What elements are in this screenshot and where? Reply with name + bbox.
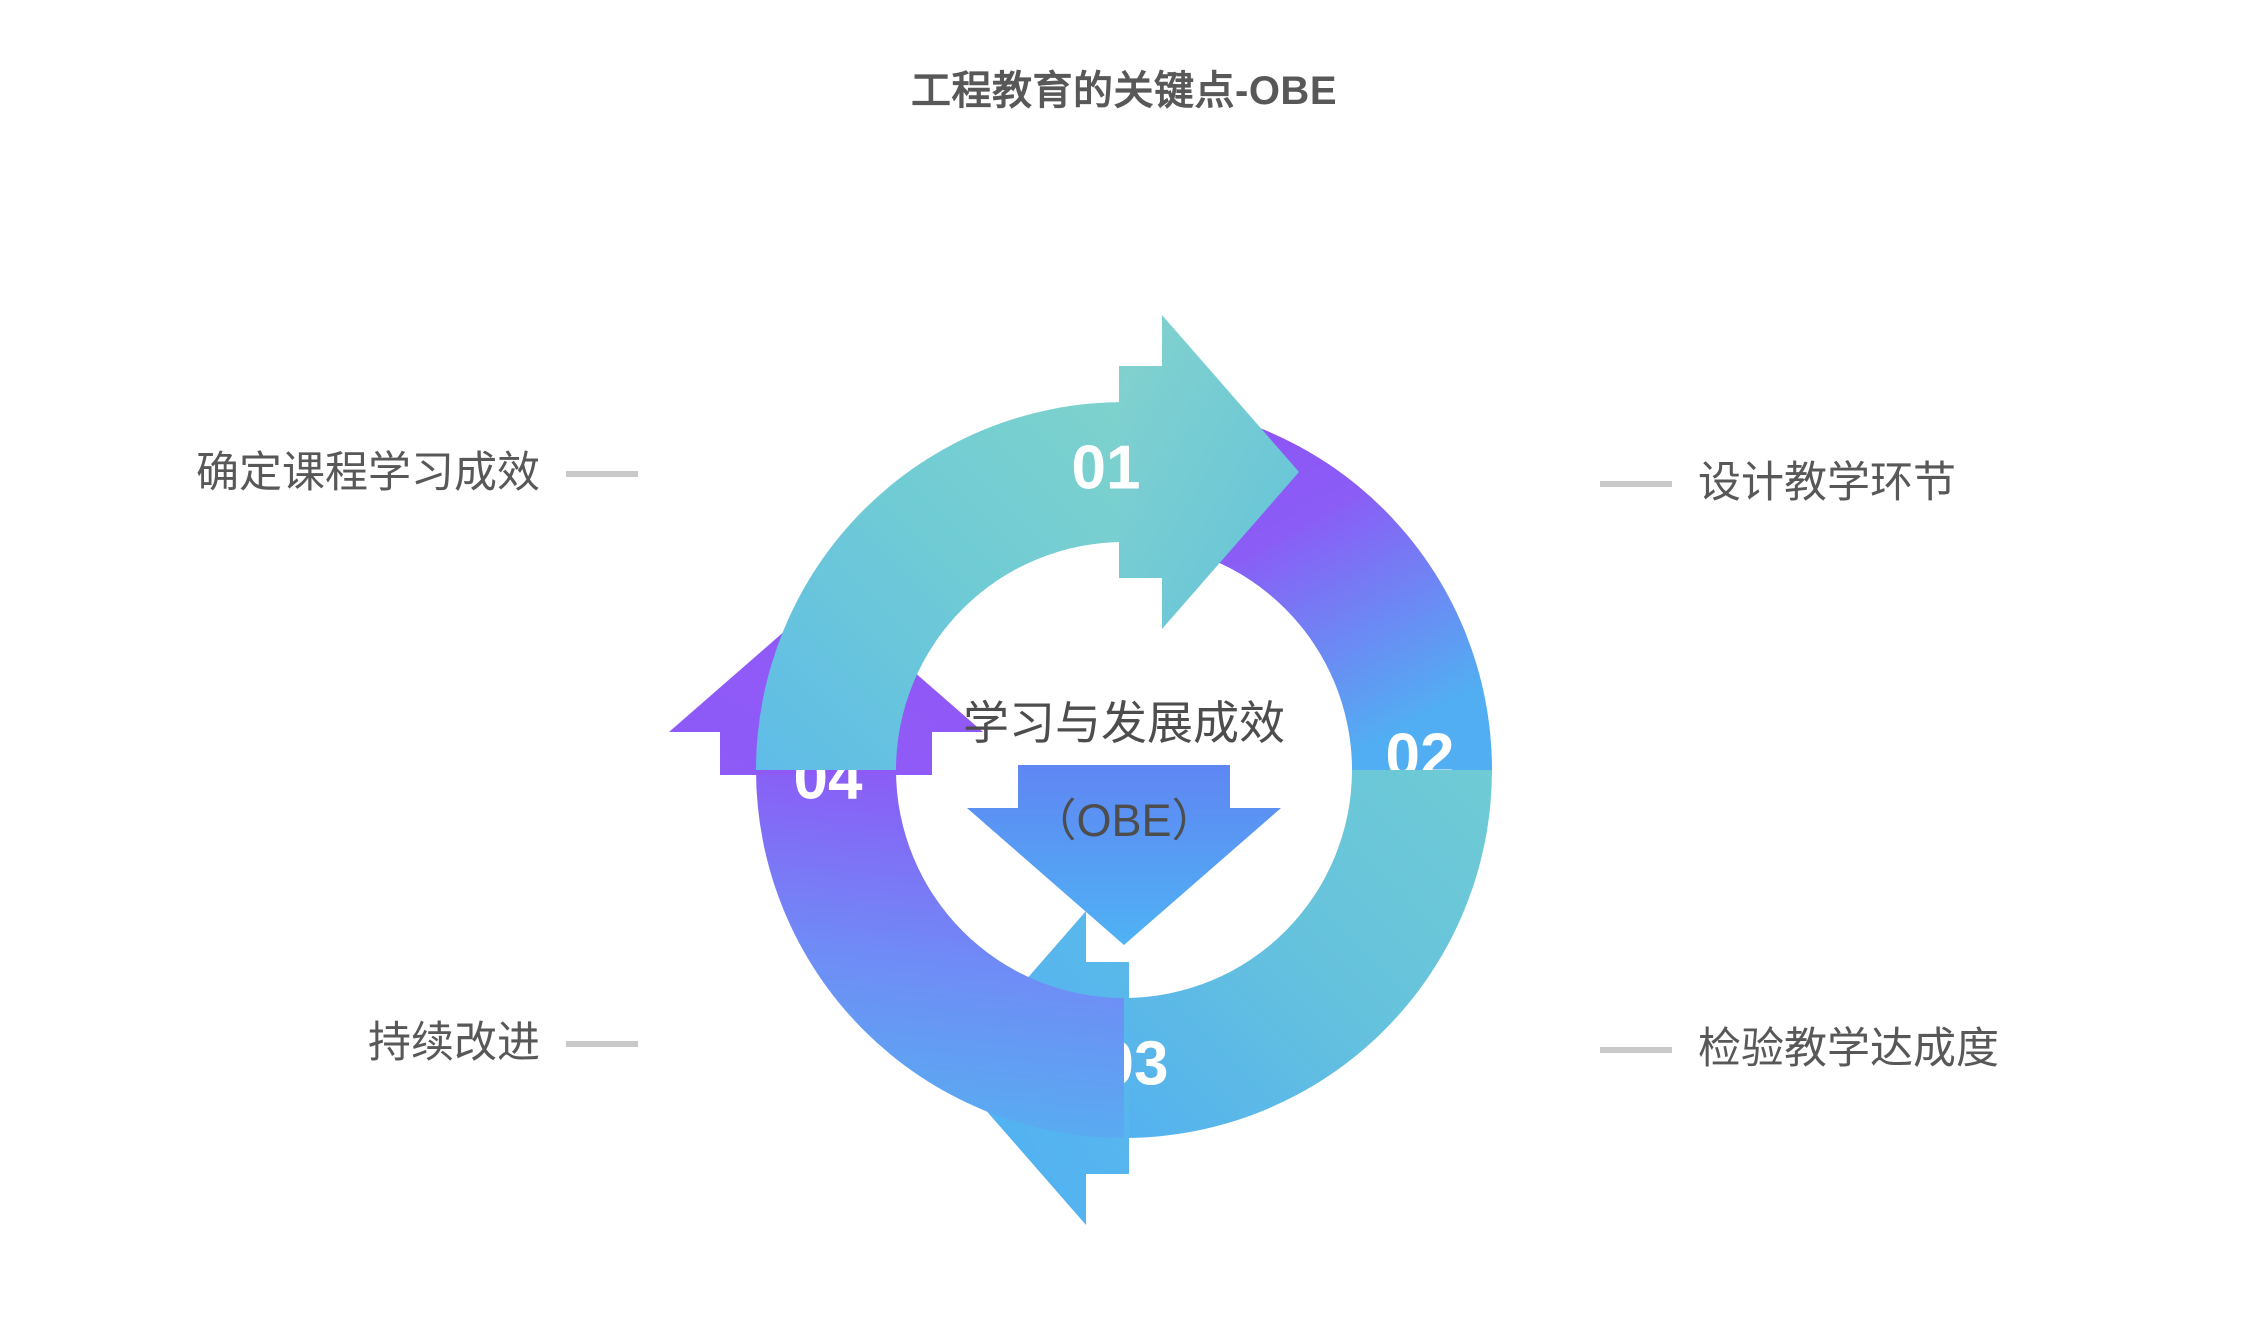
connector-dash-icon — [1600, 481, 1672, 487]
connector-dash-icon — [1600, 1047, 1672, 1053]
center-label-line1: 学习与发展成效 — [794, 700, 1454, 746]
obe-cycle-diagram: 02 03 04 01 — [0, 0, 2248, 1330]
step-number-01: 01 — [1072, 433, 1141, 502]
connector-dash-icon — [566, 471, 638, 477]
label-step-02[interactable]: 设计教学环节 — [1600, 462, 1956, 505]
label-step-04[interactable]: 持续改进 — [368, 1022, 638, 1065]
connector-dash-icon — [566, 1041, 638, 1047]
center-label: 学习与发展成效 （OBE） — [794, 700, 1454, 843]
center-label-line2: （OBE） — [794, 798, 1454, 843]
label-step-01-text: 确定课程学习成效 — [196, 452, 540, 495]
label-step-04-text: 持续改进 — [368, 1022, 540, 1065]
label-step-03-text: 检验教学达成度 — [1698, 1028, 1999, 1071]
label-step-01[interactable]: 确定课程学习成效 — [196, 452, 638, 495]
label-step-03[interactable]: 检验教学达成度 — [1600, 1028, 1999, 1071]
label-step-02-text: 设计教学环节 — [1698, 462, 1956, 505]
